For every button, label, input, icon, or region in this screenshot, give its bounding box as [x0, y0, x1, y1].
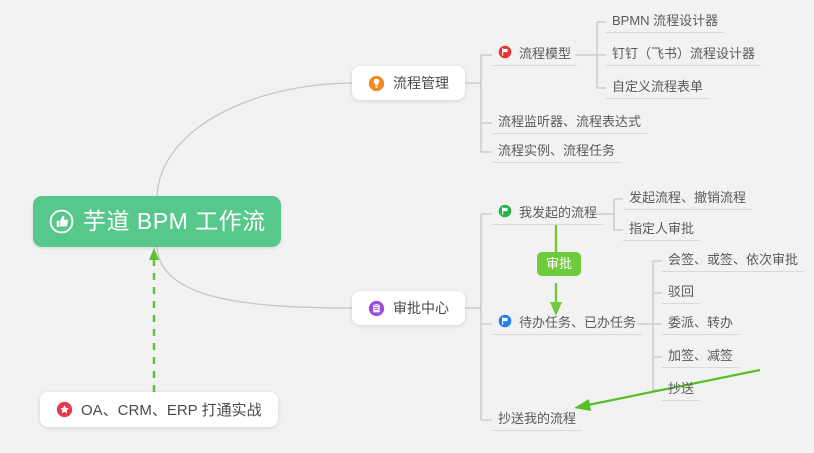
node-delegate-transfer[interactable]: 委派、转办 — [662, 313, 739, 335]
node-assignee-approval[interactable]: 指定人审批 — [623, 219, 700, 241]
node-label: 待办任务、已办任务 — [519, 312, 636, 331]
clipboard-icon — [368, 300, 385, 317]
node-label: 抄送我的流程 — [498, 408, 576, 427]
node-reject[interactable]: 驳回 — [662, 282, 700, 304]
node-process-model[interactable]: 流程模型 — [492, 44, 577, 66]
approval-highlight-label: 审批 — [546, 256, 572, 271]
thumbs-up-icon — [49, 209, 74, 234]
link-root-to-process-management — [157, 83, 352, 196]
node-integration-practice[interactable]: OA、CRM、ERP 打通实战 — [40, 392, 278, 427]
node-start-cancel-process[interactable]: 发起流程、撤销流程 — [623, 188, 752, 210]
mindmap-canvas: 芋道 BPM 工作流 流程管理 流程模型 BPMN 流程设计器 钉钉（飞书）流程 — [0, 0, 814, 453]
branch-approval-center[interactable]: 审批中心 — [352, 291, 465, 325]
node-label: 会签、或签、依次审批 — [668, 249, 798, 268]
red-star-icon — [56, 401, 73, 418]
node-dingtalk-feishu-designer[interactable]: 钉钉（飞书）流程设计器 — [606, 44, 761, 66]
dashed-arrow-to-root — [149, 248, 159, 392]
node-label: 抄送 — [668, 378, 694, 397]
node-countersign-or-sequential[interactable]: 会签、或签、依次审批 — [662, 250, 804, 272]
node-label: 我发起的流程 — [519, 202, 597, 221]
node-label: OA、CRM、ERP 打通实战 — [81, 399, 262, 420]
node-label: 流程监听器、流程表达式 — [498, 111, 641, 130]
lightbulb-icon — [368, 75, 385, 92]
root-node[interactable]: 芋道 BPM 工作流 — [33, 196, 281, 247]
node-label: 流程模型 — [519, 43, 571, 62]
node-cc[interactable]: 抄送 — [662, 379, 700, 401]
node-label: 驳回 — [668, 281, 694, 300]
node-label: 指定人审批 — [629, 218, 694, 237]
node-bpmn-designer[interactable]: BPMN 流程设计器 — [606, 11, 724, 33]
branch-label: 流程管理 — [393, 73, 449, 93]
node-label: 发起流程、撤销流程 — [629, 187, 746, 206]
approval-highlight-box[interactable]: 审批 — [537, 252, 581, 276]
red-flag-icon — [498, 45, 512, 59]
node-custom-process-form[interactable]: 自定义流程表单 — [606, 77, 709, 99]
node-label: 加签、减签 — [668, 345, 733, 364]
node-label: 钉钉（飞书）流程设计器 — [612, 43, 755, 62]
root-label: 芋道 BPM 工作流 — [83, 210, 266, 233]
node-instance-task[interactable]: 流程实例、流程任务 — [492, 141, 621, 163]
node-label: 委派、转办 — [668, 312, 733, 331]
branch-process-management[interactable]: 流程管理 — [352, 66, 465, 100]
blue-flag-icon — [498, 314, 512, 328]
branch-label: 审批中心 — [393, 298, 449, 318]
green-flag-icon — [498, 204, 512, 218]
node-cc-to-me-processes[interactable]: 抄送我的流程 — [492, 409, 582, 431]
node-label: BPMN 流程设计器 — [612, 10, 718, 29]
node-label: 流程实例、流程任务 — [498, 140, 615, 159]
link-root-to-approval-center — [157, 247, 352, 308]
node-label: 自定义流程表单 — [612, 76, 703, 95]
node-my-started-processes[interactable]: 我发起的流程 — [492, 203, 603, 225]
node-add-remove-sign[interactable]: 加签、减签 — [662, 346, 739, 368]
node-listener-expression[interactable]: 流程监听器、流程表达式 — [492, 112, 647, 134]
node-todo-done-tasks[interactable]: 待办任务、已办任务 — [492, 313, 642, 335]
